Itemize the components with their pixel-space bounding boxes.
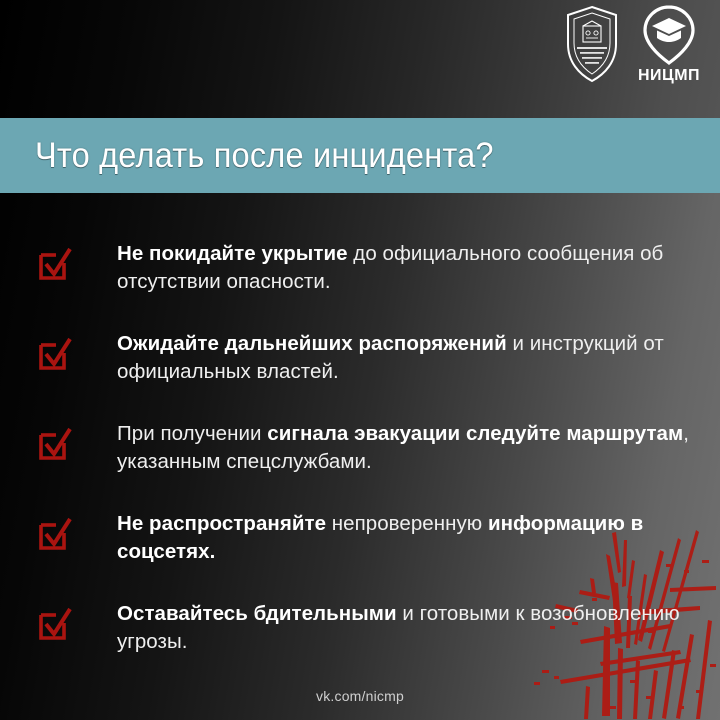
nicmp-logo: НИЦМП [634,4,704,90]
checked-checkbox-icon [37,246,73,282]
poster-canvas: НИЦМП Что делать после инцидента? [0,0,720,720]
checked-checkbox-icon [37,426,73,462]
title-band: Что делать после инцидента? [0,118,720,193]
checklist-item-text: Оставайтесь бдительными и готовыми к воз… [117,600,697,656]
checklist-item: При получении сигнала эвакуации следуйте… [0,412,720,502]
checklist-item: Не распространяйте непроверенную информа… [0,502,720,592]
logo-group: НИЦМП [564,4,704,90]
checklist-item: Ожидайте дальнейших распоряжений и инстр… [0,322,720,412]
footer-link[interactable]: vk.com/nicmp [0,688,720,704]
page-title: Что делать после инцидента? [35,136,494,176]
checklist-item-text: При получении сигнала эвакуации следуйте… [117,420,697,476]
checklist-item-text: Ожидайте дальнейших распоряжений и инстр… [117,330,697,386]
checklist-item-text: Не распространяйте непроверенную информа… [117,510,697,566]
checklist-item: Не покидайте укрытие до официального соо… [0,232,720,322]
checklist-item-text: Не покидайте укрытие до официального соо… [117,240,697,296]
map-pin-graduation-cap-icon [638,4,700,66]
checked-checkbox-icon [37,336,73,372]
header-bar: НИЦМП [0,0,720,118]
shield-emblem-icon [564,4,620,84]
checklist-item: Оставайтесь бдительными и готовыми к воз… [0,592,720,682]
checked-checkbox-icon [37,516,73,552]
checked-checkbox-icon [37,606,73,642]
nicmp-label: НИЦМП [638,67,700,85]
checklist: Не покидайте укрытие до официального соо… [0,232,720,682]
